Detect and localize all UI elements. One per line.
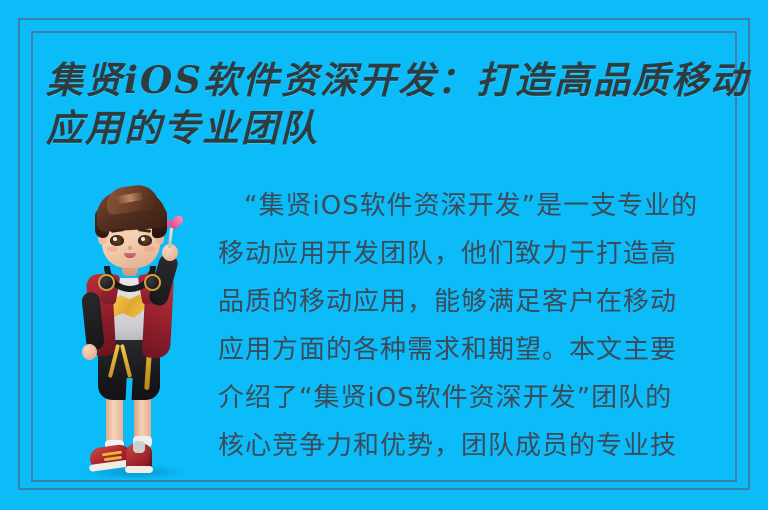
body-line: 品质的移动应用，能够满足客户在移动 (218, 278, 740, 326)
poster-canvas: 集贤iOS软件资深开发：打造高品质移动 应用的专业团队 “集贤iOS软件资深开发… (0, 0, 768, 510)
character-shorts-leg-gap (125, 378, 132, 404)
headphones-right-earcup (144, 274, 161, 291)
character-right-eye (138, 235, 152, 246)
character-left-eye (110, 235, 124, 246)
body-line: 移动应用开发团队，他们致力于打造高 (218, 230, 740, 278)
poster-body-text: “集贤iOS软件资深开发”是一支专业的 移动应用开发团队，他们致力于打造高 品质… (218, 182, 740, 470)
poster-title-line-2: 应用的专业团队 (46, 104, 752, 152)
body-line: “集贤iOS软件资深开发”是一支专业的 (218, 182, 740, 230)
character-right-sneaker-tongue (133, 441, 145, 453)
character-left-blush (107, 246, 118, 252)
character-right-blush (144, 246, 155, 252)
headphones-left-earcup (98, 274, 115, 291)
body-line: 核心竞争力和优势，团队成员的专业技 (218, 422, 740, 470)
poster-title-line-1: 集贤iOS软件资深开发：打造高品质移动 (46, 56, 752, 104)
poster-title: 集贤iOS软件资深开发：打造高品质移动 应用的专业团队 (46, 56, 752, 152)
character-left-eye-highlight (113, 237, 117, 241)
character-right-eye-highlight (141, 237, 145, 241)
character-nose (128, 246, 132, 250)
chibi-boy-character-illustration (62, 182, 212, 482)
character-right-sneaker-sole (125, 466, 153, 473)
character-left-hand (82, 344, 97, 360)
body-line: 应用方面的各种需求和期望。本文主要 (218, 326, 740, 374)
body-line: 介绍了“集贤iOS软件资深开发”团队的 (218, 374, 740, 422)
